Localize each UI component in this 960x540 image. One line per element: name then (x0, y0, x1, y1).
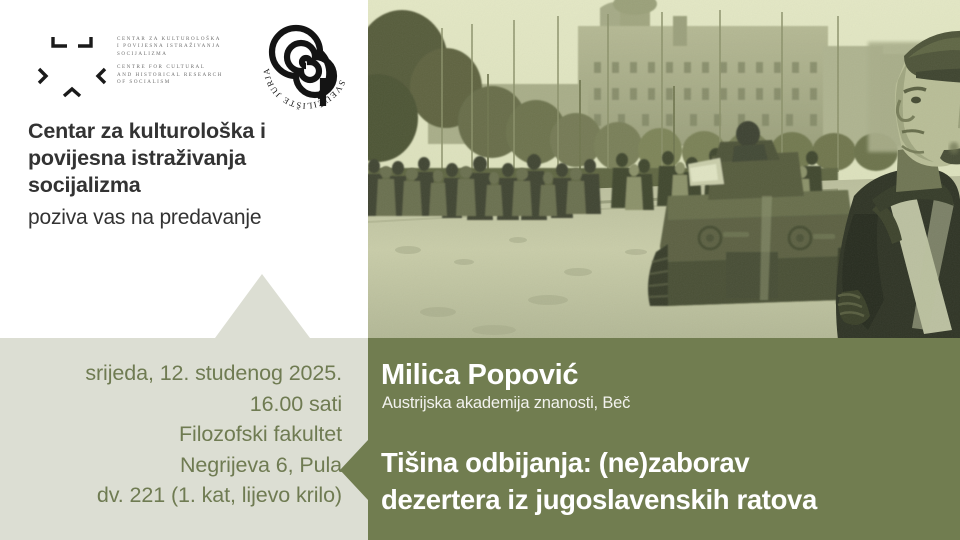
invitation-line: poziva vas na predavanje (28, 204, 358, 231)
wordmark-hr-line-2: I POVIJESNA ISTRAŽIVANJA (117, 43, 267, 50)
speaker-name: Milica Popović (381, 358, 578, 392)
star-outline-icon (26, 24, 118, 106)
university-seal: SVEUČILIŠTE JURJA DOBRILE U PULI (258, 18, 354, 114)
centre-name-heading: Centar za kulturološka i povijesna istra… (28, 118, 358, 199)
lecture-title-line-1: Tišina odbijanja: (ne)zaborav (381, 444, 941, 481)
wordmark-croatian: CENTAR ZA KULTUROLOŠKA I POVIJESNA ISTRA… (117, 36, 267, 58)
wordmark-en-line-1: CENTRE FOR CULTURAL (117, 64, 267, 71)
speaker-affiliation: Austrijska akademija znanosti, Beč (382, 393, 630, 413)
wordmark-en-line-2: AND HISTORICAL RESEARCH (117, 72, 267, 79)
detail-venue: Filozofski fakultet (0, 419, 342, 450)
wordmark-hr-line-3: SOCIJALIZMA (117, 51, 267, 58)
wordmark-english: CENTRE FOR CULTURAL AND HISTORICAL RESEA… (117, 64, 267, 86)
wordmark-en-line-3: OF SOCIALISM (117, 79, 267, 86)
detail-room: dv. 221 (1. kat, lijevo krilo) (0, 480, 342, 511)
historical-photograph (368, 0, 960, 340)
centre-wordmark: CENTAR ZA KULTUROLOŠKA I POVIJESNA ISTRA… (117, 36, 267, 86)
poster-canvas: CENTAR ZA KULTUROLOŠKA I POVIJESNA ISTRA… (0, 0, 960, 540)
lecture-title: Tišina odbijanja: (ne)zaborav dezertera … (381, 444, 941, 518)
detail-time: 16.00 sati (0, 389, 342, 420)
event-details-text: srijeda, 12. studenog 2025. 16.00 sati F… (0, 358, 342, 511)
lecture-title-line-2: dezertera iz jugoslavenskih ratova (381, 481, 941, 518)
detail-address: Negrijeva 6, Pula (0, 450, 342, 481)
detail-date: srijeda, 12. studenog 2025. (0, 358, 342, 389)
